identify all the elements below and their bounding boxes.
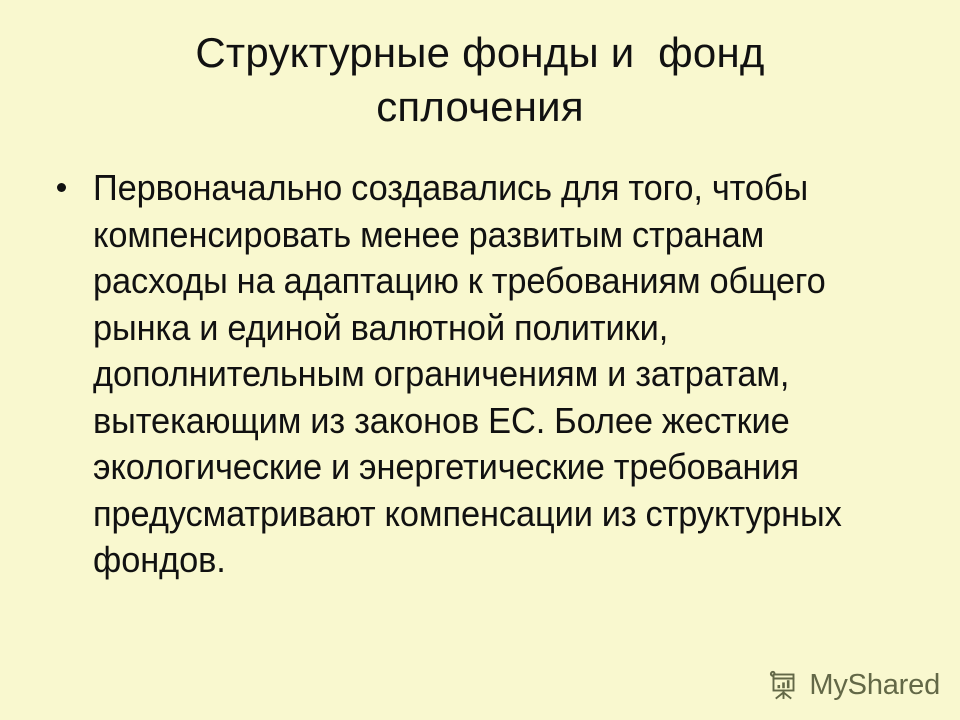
bullet-dot-icon [57, 183, 66, 192]
myshared-watermark: MyShared [767, 668, 940, 702]
flipchart-bar-chart-icon [767, 668, 801, 702]
bullet-list-item: Первоначально создавались для того, чтоб… [52, 165, 922, 584]
slide-title: Структурные фонды и фонд сплочения [40, 26, 920, 134]
presentation-slide: Структурные фонды и фонд сплочения Перво… [0, 0, 960, 720]
slide-body: Первоначально создавались для того, чтоб… [52, 165, 922, 584]
slide-title-line-2: сплочения [40, 80, 920, 134]
myshared-label: MyShared [809, 670, 940, 700]
slide-title-line-1: Структурные фонды и фонд [40, 26, 920, 80]
bullet-item-text: Первоначально создавались для того, чтоб… [93, 165, 885, 584]
